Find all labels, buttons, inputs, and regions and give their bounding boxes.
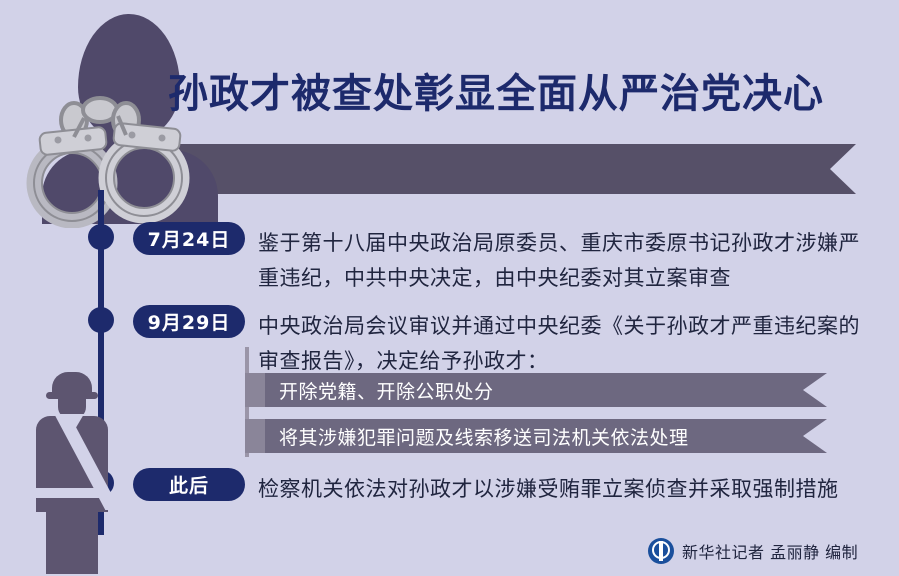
sub-banner: 开除党籍、开除公职处分 xyxy=(245,373,827,407)
timeline-entry-text: 中央政治局会议审议并通过中央纪委《关于孙政才严重违纪案的审查报告》，决定给予孙政… xyxy=(258,309,880,379)
sub-banner-label: 将其涉嫌犯罪问题及线索移送司法机关依法处理 xyxy=(279,419,689,453)
sub-banner-cap xyxy=(245,419,265,453)
infographic-poster: 孙政才被查处彰显全面从严治党决心 7月24日 鉴于第十八届中央政治局原委员、重庆… xyxy=(0,0,899,576)
timeline-entry-text: 鉴于第十八届中央政治局原委员、重庆市委原书记孙政才涉嫌严重违纪，中共中央决定，由… xyxy=(258,226,880,296)
timeline-dot xyxy=(88,224,114,250)
sub-banner: 将其涉嫌犯罪问题及线索移送司法机关依法处理 xyxy=(245,419,827,453)
sub-banner-cap xyxy=(245,373,265,407)
timeline-entry-text: 检察机关依法对孙政才以涉嫌受贿罪立案侦查并采取强制措施 xyxy=(258,472,880,507)
page-title: 孙政才被查处彰显全面从严治党决心 xyxy=(168,68,884,120)
officer-belt xyxy=(36,488,108,498)
credit-text: 新华社记者 孟丽静 编制 xyxy=(682,539,858,563)
police-officer-silhouette xyxy=(22,368,122,573)
credit-line: 新华社记者 孟丽静 编制 xyxy=(648,538,858,564)
xinhua-logo-icon xyxy=(648,538,674,564)
timeline-date-pill: 9月29日 xyxy=(133,305,245,338)
timeline-dot xyxy=(88,307,114,333)
sub-banner-label: 开除党籍、开除公职处分 xyxy=(279,373,494,407)
timeline-date-pill: 7月24日 xyxy=(133,222,245,255)
timeline-date-pill: 此后 xyxy=(133,468,245,501)
